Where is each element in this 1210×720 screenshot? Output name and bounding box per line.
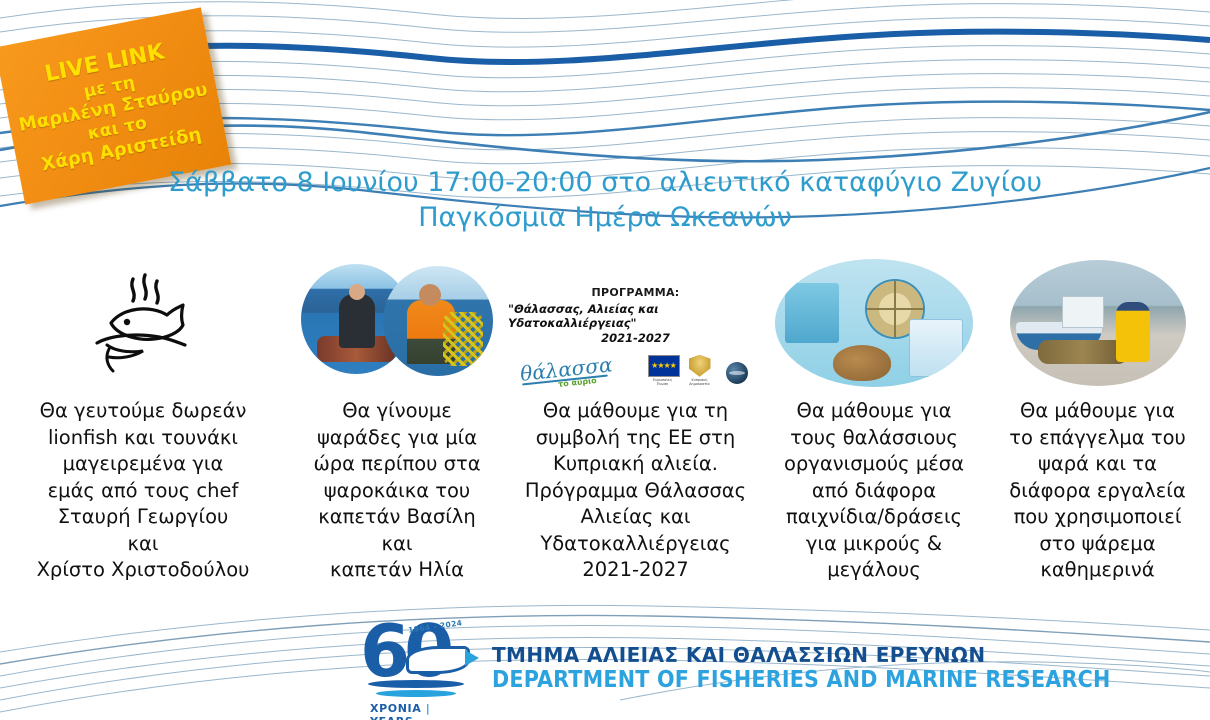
eu-flag-logo: ★★★★ Ευρωπαϊκή Ένωση	[648, 355, 678, 386]
activity-text: Θα γευτούμε δωρεάν lionfish και τουνάκι …	[31, 398, 256, 584]
text-line: καπετάν Βασίλη	[313, 504, 480, 531]
text-line: ώρα περίπου στα	[313, 451, 480, 478]
photo-fisherman-harbour	[1010, 260, 1186, 386]
event-occasion: Παγκόσμια Ημέρα Ωκεανών	[0, 201, 1210, 236]
photo-head	[349, 284, 365, 300]
programme-name: "Θάλασσας, Αλιείας και Υδατοκαλλιέργειας…	[508, 302, 763, 330]
text-line: και	[37, 531, 250, 558]
fish-eye	[124, 319, 130, 325]
text-line: Θα γίνουμε	[313, 398, 480, 425]
wave-shape-light	[376, 690, 456, 697]
hand-fingers	[107, 345, 143, 358]
cyprus-caption: Κυπριακή Δημοκρατία	[685, 379, 715, 386]
media-slot	[0, 248, 286, 398]
eu-flag-icon: ★★★★	[648, 355, 680, 377]
cyprus-crest-icon	[689, 355, 711, 377]
text-line: 2021-2027	[525, 557, 746, 584]
activity-column-fishermen: Θα γίνουμε ψαράδες για μία ώρα περίπου σ…	[286, 248, 508, 584]
photo-marine-education-display	[775, 259, 973, 387]
years-en: YEARS	[370, 715, 413, 720]
managing-authority-logo	[722, 362, 752, 386]
department-name-en: DEPARTMENT OF FISHERIES AND MARINE RESEA…	[492, 667, 1111, 693]
text-line: Χρίστο Χριστοδούλου	[37, 557, 250, 584]
activity-columns: Θα γευτούμε δωρεάν lionfish και τουνάκι …	[0, 248, 1210, 584]
photo-turtle	[833, 345, 891, 381]
text-line: το επάγγελμα του	[1009, 425, 1186, 452]
text-line: που χρησιμοποιεί	[1009, 504, 1186, 531]
activity-column-eu-programme: ΠΡΟΓΡΑΜΜΑ: "Θάλασσας, Αλιείας και Υδατοκ…	[508, 248, 763, 584]
activity-text: Θα μάθουμε για το επάγγελμα του ψαρά και…	[1003, 398, 1192, 584]
text-line: Θα μάθουμε για	[784, 398, 964, 425]
eu-stars: ★★★★	[651, 362, 676, 370]
event-headline: Σάββατο 8 Ιουνίου 17:00-20:00 στο αλιευτ…	[0, 166, 1210, 235]
media-slot	[985, 248, 1210, 398]
text-line: συμβολή της ΕΕ στη	[525, 425, 746, 452]
text-line: και	[313, 531, 480, 558]
photo-fisherman-net	[383, 266, 493, 376]
text-line: ψαράδες για μία	[313, 425, 480, 452]
photo-cabin	[1062, 296, 1104, 328]
text-line: μαγειρεμένα για	[37, 451, 250, 478]
activity-text: Θα μάθουμε για τη συμβολή της ΕΕ στη Κυπ…	[519, 398, 752, 584]
photo-figure	[339, 294, 375, 348]
text-line: Πρόγραμμα Θάλασσας	[525, 478, 746, 505]
anniversary-years-label: ΧΡΟΝΙΑ | YEARS	[370, 702, 478, 720]
text-line: Θα μάθουμε για τη	[525, 398, 746, 425]
activity-column-tasting: Θα γευτούμε δωρεάν lionfish και τουνάκι …	[0, 248, 286, 584]
years-separator: |	[426, 702, 431, 715]
text-line: lionfish και τουνάκι	[37, 425, 250, 452]
text-line: εμάς από τους chef	[37, 478, 250, 505]
text-line: Θα μάθουμε για	[1009, 398, 1186, 425]
text-line: για μικρούς &	[784, 531, 964, 558]
text-line: παιχνίδια/δράσεις	[784, 504, 964, 531]
years-gr: ΧΡΟΝΙΑ	[370, 702, 421, 715]
programme-logo-row: θάλασσα το αύριο ★★★★ Ευρωπαϊκή Ένωση	[520, 355, 752, 386]
text-line: ψαροκάικα του	[313, 478, 480, 505]
fish-icon	[406, 646, 470, 674]
hand-wrist	[107, 349, 113, 371]
department-footer: 60 1964 - 2024 ΧΡΟΝΙΑ | YEARS ΤΜΗΜΑ ΑΛΙΕ…	[356, 622, 1111, 714]
activity-column-fisher-profession: Θα μάθουμε για το επάγγελμα του ψαρά και…	[985, 248, 1210, 584]
text-line: καπετάν Ηλία	[313, 557, 480, 584]
text-line: Θα γευτούμε δωρεάν	[37, 398, 250, 425]
eu-flag-caption: Ευρωπαϊκή Ένωση	[648, 379, 678, 386]
department-name-block: ΤΜΗΜΑ ΑΛΙΕΙΑΣ ΚΑΙ ΘΑΛΑΣΣΙΩΝ ΕΡΕΥΝΩΝ DEPA…	[492, 643, 1111, 693]
text-line: Αλιείας και	[525, 504, 746, 531]
institutional-logos: ★★★★ Ευρωπαϊκή Ένωση Κυπριακή Δημοκρατία	[648, 355, 752, 386]
photo-fisherman	[1116, 302, 1150, 362]
photo-net	[443, 312, 483, 366]
globe-icon	[726, 362, 748, 384]
media-slot	[286, 248, 508, 398]
text-line: Σταυρή Γεωργίου	[37, 504, 250, 531]
thalassa-logo: θάλασσα το αύριο	[520, 359, 614, 386]
text-line: από διάφορα	[784, 478, 964, 505]
text-line: οργανισμούς μέσα	[784, 451, 964, 478]
photo-head	[419, 284, 441, 306]
media-slot: ΠΡΟΓΡΑΜΜΑ: "Θάλασσας, Αλιείας και Υδατοκ…	[508, 248, 763, 398]
activity-column-marine-organisms: Θα μάθουμε για τους θαλάσσιους οργανισμο…	[763, 248, 985, 584]
cyprus-coat-of-arms-logo: Κυπριακή Δημοκρατία	[685, 355, 715, 386]
department-name-gr: ΤΜΗΜΑ ΑΛΙΕΙΑΣ ΚΑΙ ΘΑΛΑΣΣΙΩΝ ΕΡΕΥΝΩΝ	[492, 643, 1111, 667]
programme-period: 2021-2027	[601, 331, 670, 345]
poster-canvas: LIVE LINK με τη Μαριλένη Σταύρου και το …	[0, 0, 1210, 720]
text-line: στο ψάρεμα	[1009, 531, 1186, 558]
photo-infochart	[909, 319, 963, 377]
text-line: Υδατοκαλλιέργειας	[525, 531, 746, 558]
text-line: καθημερινά	[1009, 557, 1186, 584]
programme-block: ΠΡΟΓΡΑΜΜΑ: "Θάλασσας, Αλιείας και Υδατοκ…	[508, 260, 763, 386]
text-line: ψαρά και τα	[1009, 451, 1186, 478]
anniversary-logo: 60 1964 - 2024 ΧΡΟΝΙΑ | YEARS	[356, 622, 478, 714]
wave-shape-dark	[368, 680, 464, 688]
text-line: μεγάλους	[784, 557, 964, 584]
activity-text: Θα μάθουμε για τους θαλάσσιους οργανισμο…	[778, 398, 970, 584]
event-datetime-location: Σάββατο 8 Ιουνίου 17:00-20:00 στο αλιευτ…	[0, 166, 1210, 201]
photo-poster	[785, 283, 839, 343]
media-slot	[763, 248, 985, 398]
text-line: διάφορα εργαλεία	[1009, 478, 1186, 505]
activity-text: Θα γίνουμε ψαράδες για μία ώρα περίπου σ…	[307, 398, 486, 584]
steaming-fish-icon	[89, 271, 197, 375]
photo-nets	[1038, 340, 1128, 364]
text-line: τους θαλάσσιους	[784, 425, 964, 452]
text-line: Κυπριακή αλιεία.	[525, 451, 746, 478]
programme-label: ΠΡΟΓΡΑΜΜΑ:	[591, 286, 679, 299]
